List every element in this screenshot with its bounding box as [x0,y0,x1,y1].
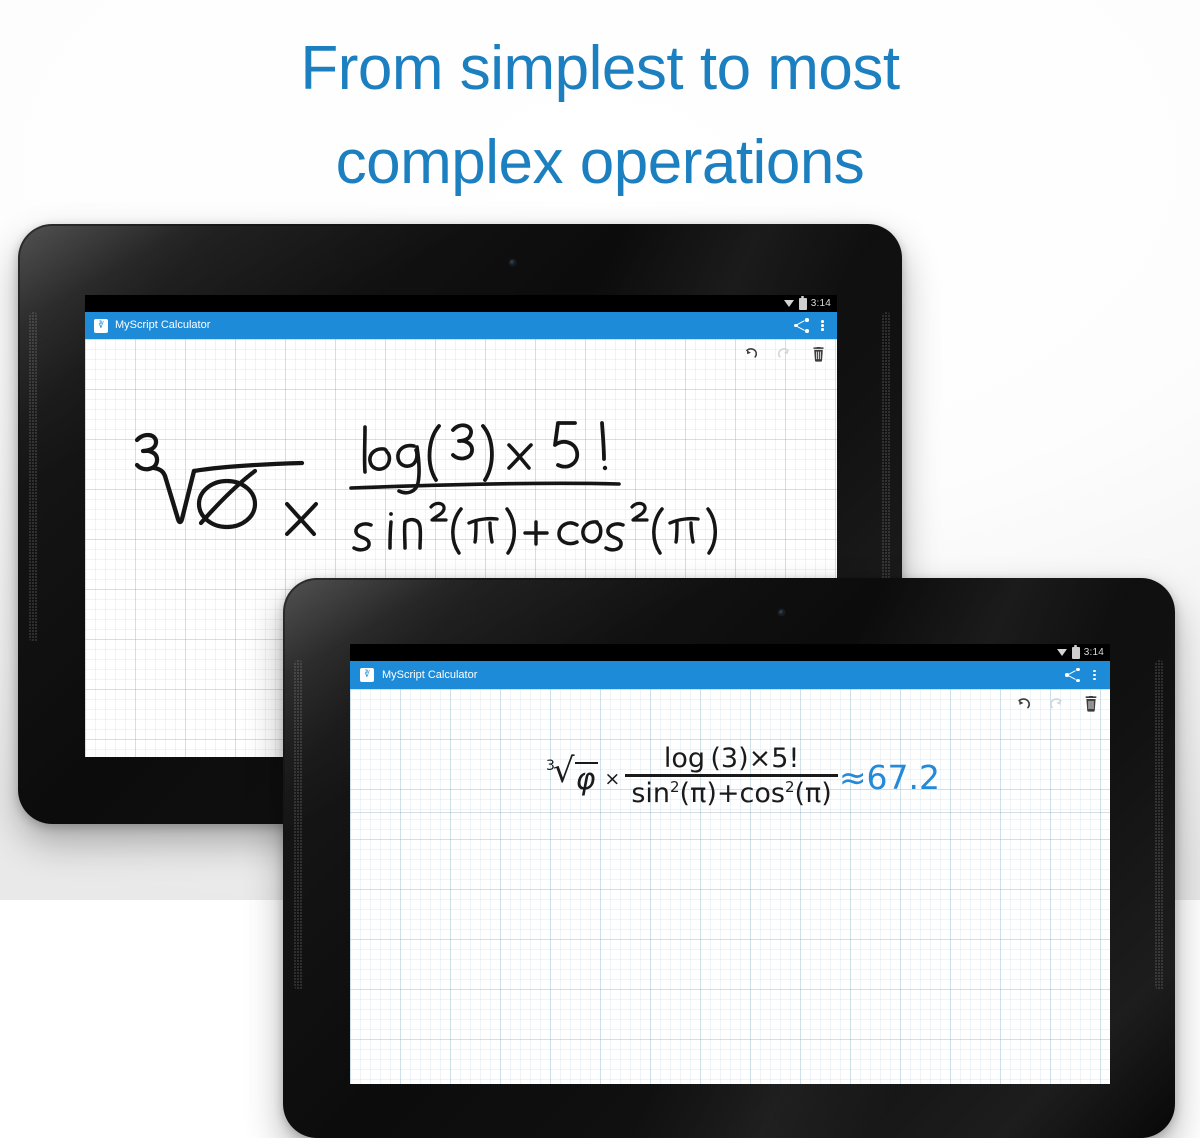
app-bar-back: ∛ MyScript Calculator [85,312,837,339]
overflow-menu-icon[interactable] [1088,668,1101,683]
headline-line-1: From simplest to most [300,34,899,103]
speaker-grille-left-front [294,660,303,990]
cube-root-group: 3 √ φ [546,757,598,795]
multiply-operator: × [604,768,620,790]
tablet-device-front: 3:14 ∛ MyScript Calculator [283,578,1175,1138]
battery-icon [799,298,807,310]
app-logo-cube-root-icon: ∛ [360,668,374,682]
page-headline: From simplest to most complex operations [0,22,1200,210]
android-status-bar-front: 3:14 [350,644,1110,661]
wifi-icon [784,299,795,308]
speaker-grille-right-front [1155,660,1164,990]
den-sin: sin [631,778,670,809]
radical-sign-icon: √ [553,754,575,788]
share-icon[interactable] [1065,668,1080,683]
wifi-icon [1057,648,1068,657]
fraction-numerator: log (3)×5! [658,744,805,774]
app-logo-cube-root-icon: ∛ [94,319,108,333]
den-cos-argument: (π) [794,778,831,809]
redo-icon [767,343,801,365]
expression-baseline [350,812,1110,813]
front-camera-back [510,260,515,265]
trash-icon[interactable] [1074,693,1108,715]
canvas-toolbar-back [733,343,835,365]
redo-icon [1040,693,1074,715]
front-camera-front [779,610,784,615]
undo-icon[interactable] [733,343,767,365]
speaker-grille-left-back [29,312,38,642]
app-title: MyScript Calculator [115,320,210,331]
handwritten-expression-back [119,405,719,585]
handwriting-canvas-front[interactable]: 3 √ φ × log (3)×5! sin2(π)+cos2(π) ≈67.2 [350,689,1110,1084]
rendered-expression-front: 3 √ φ × log (3)×5! sin2(π)+cos2(π) ≈67.2 [546,744,940,808]
den-plus: + [717,778,740,809]
den-cos: cos [740,778,785,809]
tablet-screen-front: 3:14 ∛ MyScript Calculator [350,644,1110,1084]
status-clock: 3:14 [1084,648,1104,658]
computed-result: ≈67.2 [839,761,940,794]
battery-icon [1072,647,1080,659]
fraction-group: log (3)×5! sin2(π)+cos2(π) [625,744,838,808]
den-sin-exponent: 2 [670,778,680,796]
canvas-toolbar-front [1006,693,1108,715]
status-clock: 3:14 [811,299,831,309]
share-icon[interactable] [794,318,809,333]
radicand-phi: φ [575,762,599,795]
app-bar-front: ∛ MyScript Calculator [350,661,1110,689]
app-title: MyScript Calculator [382,670,477,681]
den-sin-argument: (π) [680,778,717,809]
undo-icon[interactable] [1006,693,1040,715]
fraction-denominator: sin2(π)+cos2(π) [625,777,838,808]
android-status-bar-back: 3:14 [85,295,837,312]
trash-icon[interactable] [801,343,835,365]
overflow-menu-icon[interactable] [816,318,829,333]
headline-line-2: complex operations [336,128,865,197]
